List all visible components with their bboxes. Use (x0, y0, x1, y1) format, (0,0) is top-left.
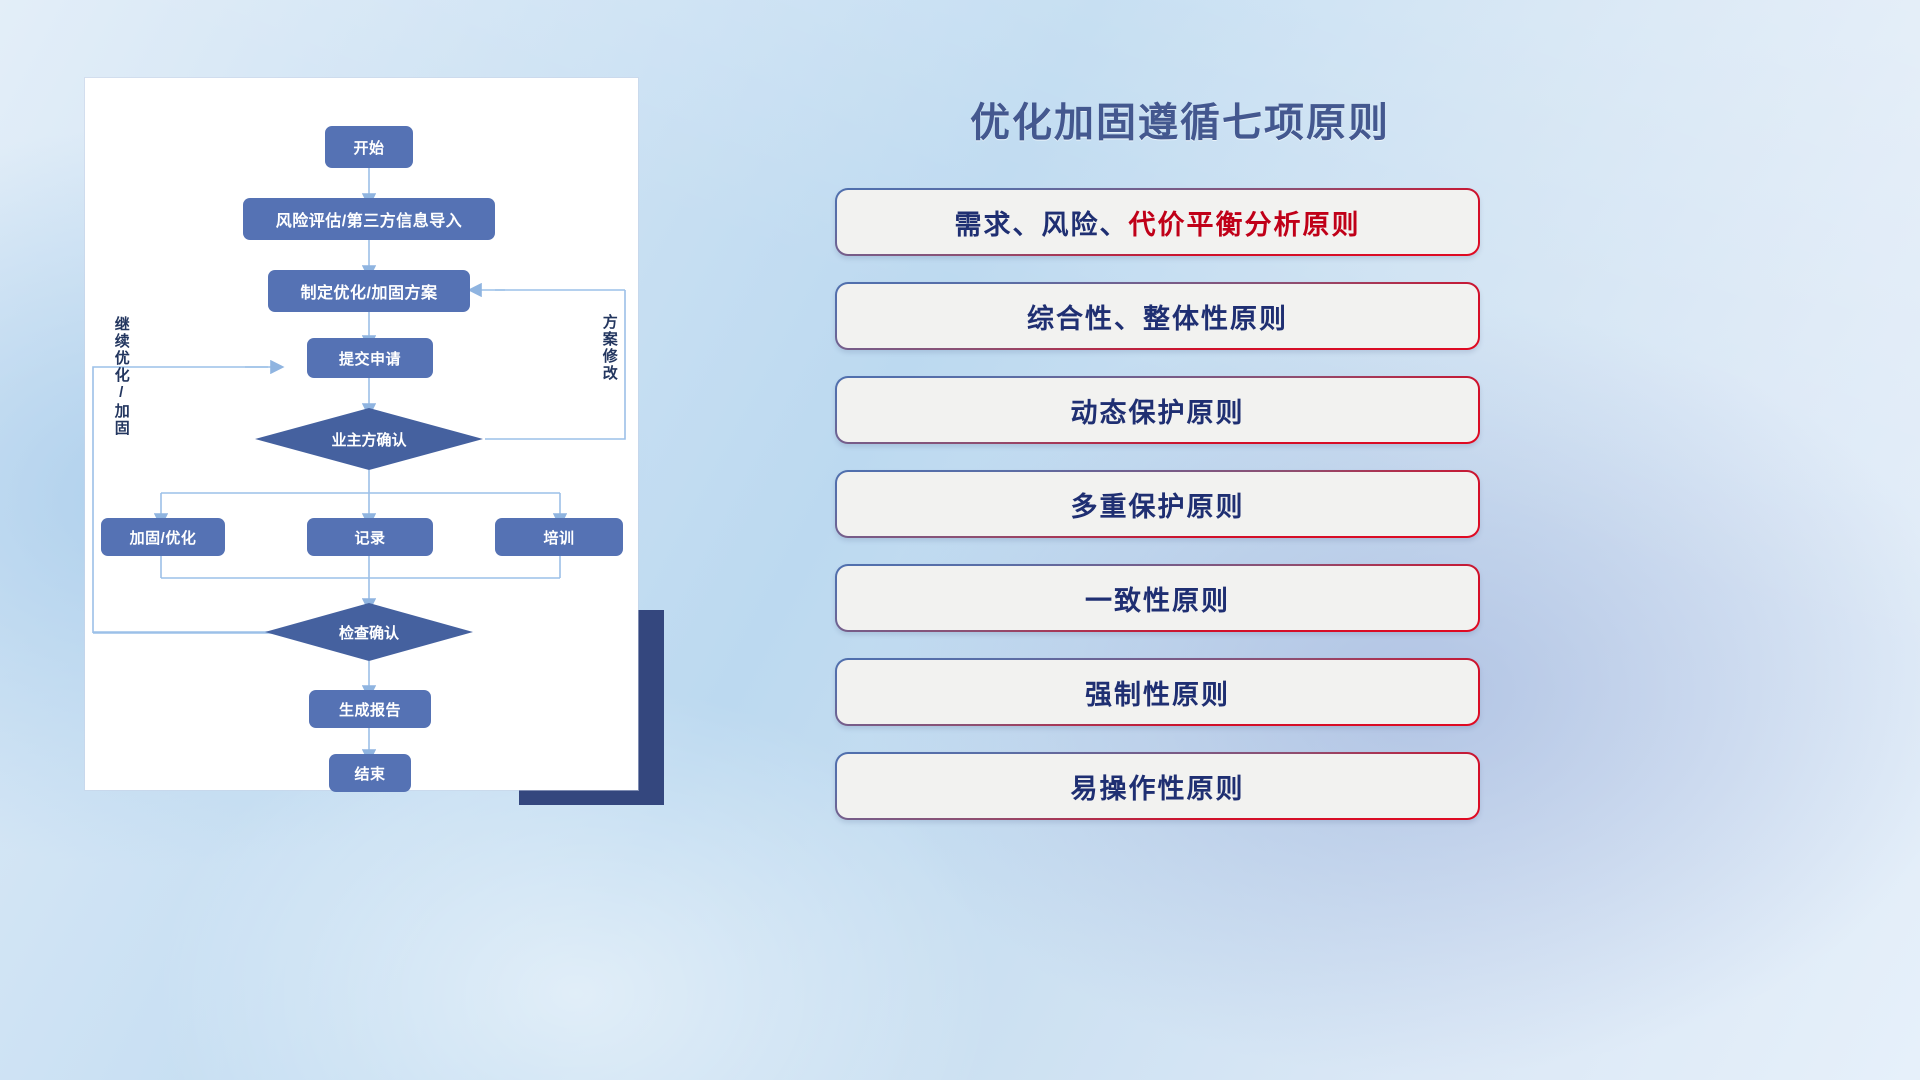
flow-node-reinforce-optimize[interactable]: 加固/优化 (101, 518, 225, 556)
principle-card-5-label: 一致性原则 (1085, 579, 1230, 618)
principles-card-list: 需求、风险、代价平衡分析原则 综合性、整体性原则 动态保护原则 多重保护原则 一… (835, 188, 1480, 846)
principle-card-2[interactable]: 综合性、整体性原则 (835, 282, 1480, 350)
principle-card-5[interactable]: 一致性原则 (835, 564, 1480, 632)
flow-node-end[interactable]: 结束 (329, 754, 411, 792)
flow-node-training[interactable]: 培训 (495, 518, 623, 556)
flow-decision-check-confirm-label: 检查确认 (339, 622, 399, 643)
principle-card-3-text: 动态保护原则 (1071, 398, 1245, 428)
principle-card-7-text: 易操作性原则 (1071, 774, 1245, 804)
principle-card-1-text-blue: 需求、风险、 (955, 210, 1129, 240)
principle-card-4-text: 多重保护原则 (1071, 492, 1245, 522)
flow-node-submit-application[interactable]: 提交申请 (307, 338, 433, 378)
flowchart-panel: 开始 风险评估/第三方信息导入 制定优化/加固方案 提交申请 业主方确认 加固/… (85, 78, 638, 790)
flow-node-record-label: 记录 (354, 527, 385, 548)
flow-node-make-plan-label: 制定优化/加固方案 (301, 279, 438, 303)
flow-node-start[interactable]: 开始 (325, 126, 413, 168)
flow-node-end-label: 结束 (354, 763, 385, 784)
flow-node-record[interactable]: 记录 (307, 518, 433, 556)
flow-edge-label-plan-revision: 方案修改 (601, 314, 617, 414)
principles-panel: 优化加固遵循七项原则 需求、风险、代价平衡分析原则 综合性、整体性原则 动态保护… (830, 70, 1530, 860)
principle-card-7-label: 易操作性原则 (1071, 767, 1245, 806)
flow-node-submit-application-label: 提交申请 (339, 348, 401, 369)
principle-card-4-label: 多重保护原则 (1071, 485, 1245, 524)
principle-card-6[interactable]: 强制性原则 (835, 658, 1480, 726)
page-title: 优化加固遵循七项原则 (830, 90, 1530, 148)
flow-node-risk-assessment[interactable]: 风险评估/第三方信息导入 (243, 198, 495, 240)
principle-card-6-text: 强制性原则 (1085, 680, 1230, 710)
flow-decision-owner-confirm-label: 业主方确认 (331, 429, 406, 450)
principle-card-1-label: 需求、风险、代价平衡分析原则 (955, 203, 1361, 242)
principle-card-5-text: 一致性原则 (1085, 586, 1230, 616)
flow-node-generate-report[interactable]: 生成报告 (309, 690, 431, 728)
flow-node-generate-report-label: 生成报告 (339, 699, 401, 720)
principle-card-4[interactable]: 多重保护原则 (835, 470, 1480, 538)
principle-card-7[interactable]: 易操作性原则 (835, 752, 1480, 820)
flow-node-make-plan[interactable]: 制定优化/加固方案 (268, 270, 470, 312)
flow-node-start-label: 开始 (353, 137, 384, 158)
flow-node-risk-assessment-label: 风险评估/第三方信息导入 (276, 207, 462, 231)
principle-card-2-label: 综合性、整体性原则 (1027, 297, 1288, 336)
flow-edge-label-continue-optimize: 继续优化/加固 (113, 316, 129, 456)
principle-card-1-text-red: 代价平衡分析原则 (1129, 210, 1361, 240)
flow-node-reinforce-optimize-label: 加固/优化 (130, 527, 197, 548)
principle-card-3-label: 动态保护原则 (1071, 391, 1245, 430)
principle-card-1[interactable]: 需求、风险、代价平衡分析原则 (835, 188, 1480, 256)
flow-node-training-label: 培训 (543, 527, 574, 548)
principle-card-2-text: 综合性、整体性原则 (1027, 304, 1288, 334)
principle-card-6-label: 强制性原则 (1085, 673, 1230, 712)
principle-card-3[interactable]: 动态保护原则 (835, 376, 1480, 444)
